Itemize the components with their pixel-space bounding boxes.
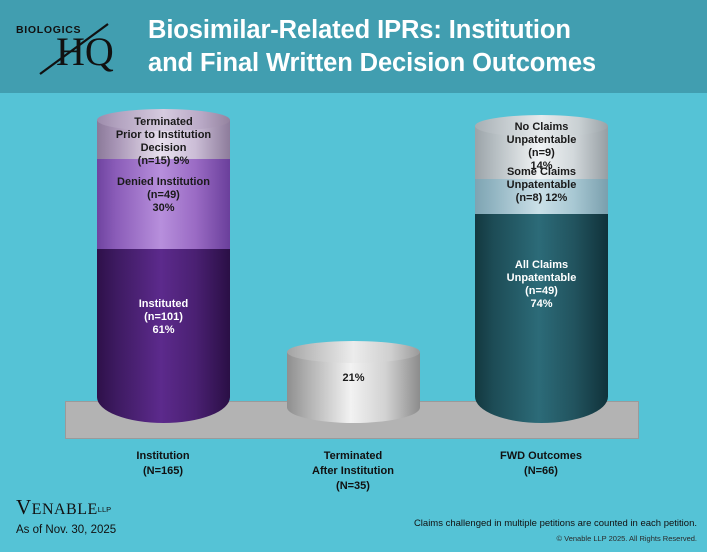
- category-institution-line2: (N=165): [93, 464, 233, 479]
- category-terminated-line1: Terminated: [283, 449, 423, 464]
- category-terminated-line2: After Institution: [283, 464, 423, 479]
- venable-logo-rest: ENABLE: [32, 501, 98, 518]
- venable-logo-v: V: [16, 495, 32, 519]
- segment-instituted-body: [97, 238, 230, 423]
- copyright-notice: © Venable LLP 2025. All Rights Reserved.: [557, 534, 697, 543]
- category-fwd-line2: (N=66): [471, 464, 611, 479]
- category-label-fwd-outcomes: FWD Outcomes (N=66): [471, 449, 611, 479]
- segment-terminated-prior-top-ellipse: [97, 109, 230, 131]
- segment-no-claims-unpatentable-top-ellipse: [475, 115, 608, 137]
- segment-terminated-after-top-ellipse: [287, 341, 420, 363]
- segment-denied-institution-body: [97, 148, 230, 249]
- segment-terminated-after[interactable]: 21%: [287, 352, 420, 423]
- category-label-terminated-after-institution: Terminated After Institution (N=35): [283, 449, 423, 494]
- logo-wordmark-hq: HQ: [56, 32, 114, 72]
- segment-terminated-prior[interactable]: Terminated Prior to Institution Decision…: [97, 120, 230, 159]
- category-terminated-line3: (N=35): [283, 479, 423, 494]
- as-of-date: As of Nov. 30, 2025: [16, 524, 116, 536]
- biologicshq-logo: BIOLOGICS HQ: [14, 18, 134, 80]
- segment-instituted[interactable]: Instituted (n=101) 61%: [97, 238, 230, 423]
- page-title-line1: Biosimilar-Related IPRs: Institution: [148, 14, 696, 47]
- segment-all-claims-unpatentable[interactable]: All Claims Unpatentable (n=49) 74%: [475, 203, 608, 423]
- category-fwd-line1: FWD Outcomes: [471, 449, 611, 464]
- page-title-line2: and Final Written Decision Outcomes: [148, 47, 696, 80]
- segment-all-claims-unpatentable-body: [475, 203, 608, 423]
- venable-logo-llp: LLP: [98, 505, 111, 514]
- footnote: Claims challenged in multiple petitions …: [414, 518, 697, 529]
- cylinder-terminated-after-institution[interactable]: 21%: [287, 352, 420, 423]
- cylinder-fwd-outcomes[interactable]: All Claims Unpatentable (n=49) 74% Some …: [475, 126, 608, 423]
- category-institution-line1: Institution: [93, 449, 233, 464]
- slide-canvas: BIOLOGICS HQ Biosimilar-Related IPRs: In…: [0, 0, 707, 552]
- category-label-institution: Institution (N=165): [93, 449, 233, 479]
- cylinder-institution[interactable]: Instituted (n=101) 61% Denied Institutio…: [97, 120, 230, 423]
- page-title: Biosimilar-Related IPRs: Institution and…: [148, 14, 696, 79]
- segment-no-claims-unpatentable[interactable]: No Claims Unpatentable (n=9) 14%: [475, 126, 608, 179]
- venable-logo: VENABLELLP: [16, 495, 111, 520]
- segment-denied-institution[interactable]: Denied Institution (n=49) 30%: [97, 148, 230, 249]
